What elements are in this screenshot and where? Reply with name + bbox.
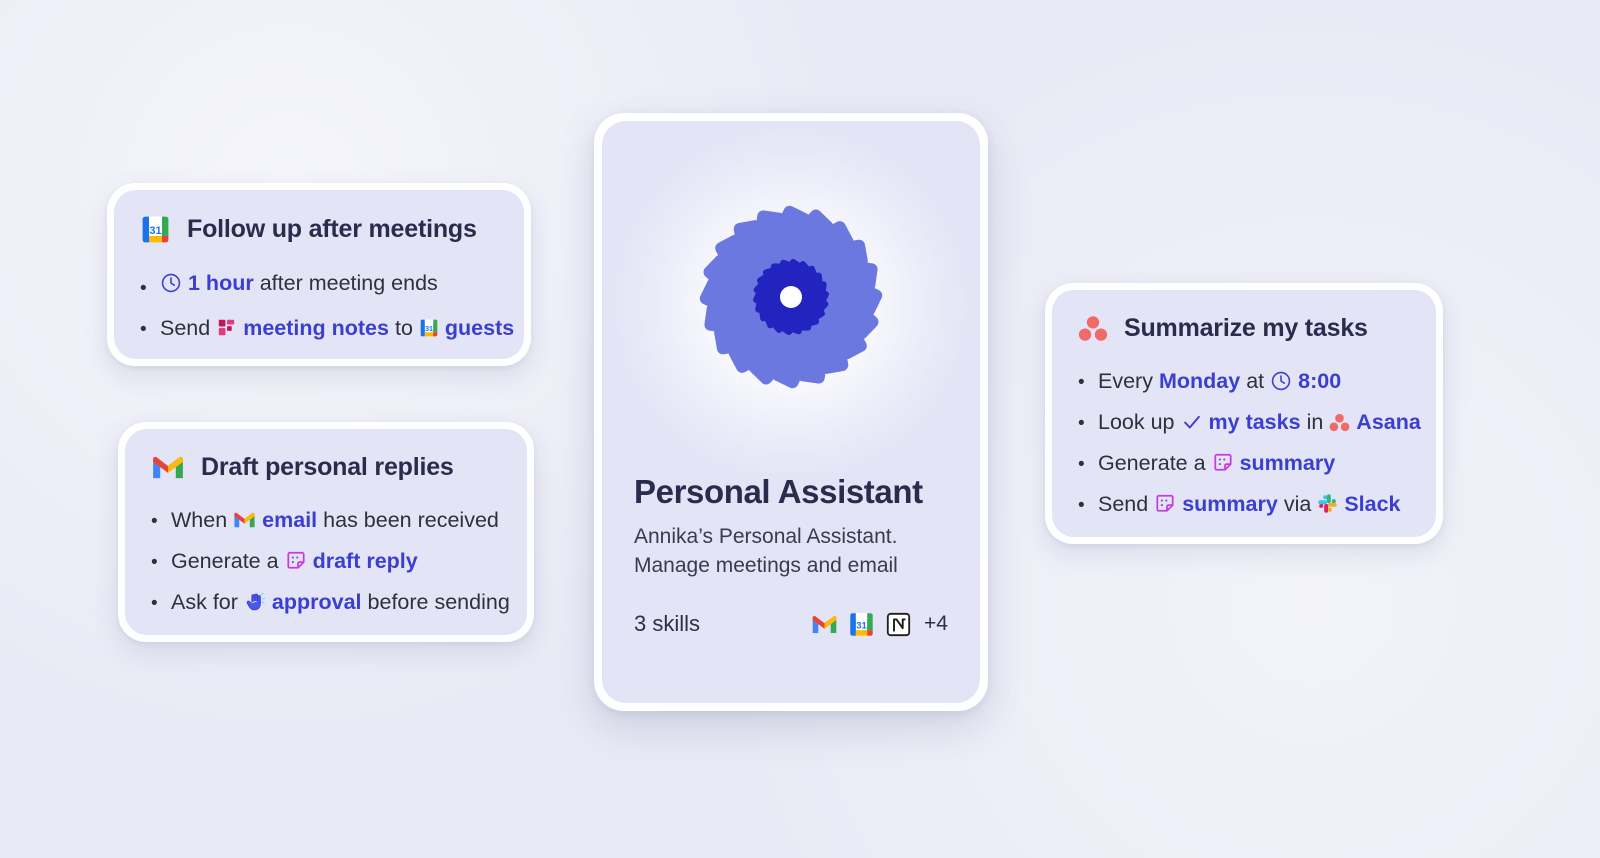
assistant-body: Personal Assistant Annika’s Personal Ass… (602, 473, 980, 638)
card-header: Summarize my tasks (1078, 314, 1410, 343)
bullet-entity[interactable]: draft reply (313, 541, 418, 582)
bullet-text: Send (1098, 484, 1148, 525)
notion-icon (885, 611, 912, 638)
bullet-text: in (1307, 402, 1324, 443)
bullet-entity[interactable]: guests (445, 308, 514, 349)
bullet-marker: • (1078, 447, 1098, 483)
bullet-item: • 1 hourafter meeting ends (140, 263, 498, 308)
card-header: 31 Follow up after meetings (140, 214, 498, 245)
bullet-list: •EveryMondayat 8:00•Look up my tasksin A… (1078, 361, 1410, 524)
svg-text:31: 31 (856, 620, 867, 631)
bullet-marker: • (1078, 365, 1098, 401)
note-icon (1212, 452, 1234, 474)
card-inner: Draft personal replies •When emailhas be… (125, 429, 527, 635)
bullet-list: • 1 hourafter meeting ends•Send meeting … (140, 263, 498, 348)
slack-icon (1317, 493, 1338, 514)
card-inner: 31 Follow up after meetings • 1 hourafte… (114, 190, 524, 359)
bullet-item: •Look up my tasksin Asana (1078, 402, 1410, 443)
bullet-text: after meeting ends (260, 263, 438, 304)
bullet-text: via (1284, 484, 1311, 525)
bullet-text: Send (160, 308, 210, 349)
bullet-entity[interactable]: email (262, 500, 317, 541)
bullet-item: •EveryMondayat 8:00 (1078, 361, 1410, 402)
bullet-list: •When emailhas been received•Generate a … (151, 500, 501, 623)
assistant-title: Personal Assistant (634, 473, 948, 511)
assistant-logo (602, 121, 980, 473)
assistant-footer: 3 skills 31 (634, 611, 948, 638)
bullet-content: Ask for approvalbefore sending (171, 582, 510, 623)
bullet-text: Every (1098, 361, 1153, 402)
bullet-content: Send summaryvia Slack (1098, 484, 1401, 525)
bullet-entity[interactable]: Monday (1159, 361, 1240, 402)
bullet-item: •Send summaryvia Slack (1078, 484, 1410, 525)
bullet-marker: • (151, 586, 171, 622)
note-icon (285, 550, 307, 572)
bullet-content: Look up my tasksin Asana (1098, 402, 1421, 443)
clock-icon (1270, 370, 1292, 392)
bullet-item: •Ask for approvalbefore sending (151, 582, 501, 623)
card-inner: Summarize my tasks •EveryMondayat 8:00•L… (1052, 290, 1436, 537)
google-calendar-icon: 31 (848, 611, 875, 638)
page-background: 31 Follow up after meetings • 1 hourafte… (0, 0, 1600, 858)
bullet-content: EveryMondayat 8:00 (1098, 361, 1341, 402)
card-inner: Personal Assistant Annika’s Personal Ass… (602, 121, 980, 703)
bullet-marker: • (1078, 488, 1098, 524)
note-icon (1154, 493, 1176, 515)
bullet-entity[interactable]: summary (1182, 484, 1278, 525)
bullet-entity[interactable]: my tasks (1209, 402, 1301, 443)
svg-text:31: 31 (149, 225, 161, 237)
bullet-entity[interactable]: 8:00 (1298, 361, 1341, 402)
bullet-content: When emailhas been received (171, 500, 499, 541)
bullet-item: •Generate a draft reply (151, 541, 501, 582)
assistant-card[interactable]: Personal Assistant Annika’s Personal Ass… (594, 113, 988, 711)
bullet-entity[interactable]: meeting notes (243, 308, 389, 349)
bullet-text: to (395, 308, 413, 349)
assistant-description: Annika’s Personal Assistant. Manage meet… (634, 523, 944, 581)
bullet-item: •Generate a summary (1078, 443, 1410, 484)
bullet-entity[interactable]: 1 hour (188, 263, 254, 304)
svg-text:31: 31 (425, 325, 433, 333)
asana-icon (1329, 413, 1350, 432)
check-icon (1181, 411, 1203, 433)
bullet-item: •Send meeting notesto 31 guests (140, 308, 498, 349)
card-title: Summarize my tasks (1124, 314, 1368, 343)
app-overflow-count: +4 (924, 612, 948, 636)
skill-card-follow-up[interactable]: 31 Follow up after meetings • 1 hourafte… (107, 183, 531, 366)
hand-raise-icon (244, 591, 266, 613)
bullet-entity[interactable]: Asana (1356, 402, 1421, 443)
bullet-marker: • (151, 504, 171, 540)
bullet-text: Ask for (171, 582, 238, 623)
skill-card-draft-replies[interactable]: Draft personal replies •When emailhas be… (118, 422, 534, 642)
dovetail-icon (216, 317, 237, 338)
asana-icon (1078, 315, 1108, 342)
bullet-text: Generate a (1098, 443, 1206, 484)
bullet-content: Generate a draft reply (171, 541, 418, 582)
bullet-content: Send meeting notesto 31 guests (160, 308, 514, 349)
bullet-entity[interactable]: Slack (1344, 484, 1400, 525)
bullet-entity[interactable]: approval (272, 582, 362, 623)
bullet-item: •When emailhas been received (151, 500, 501, 541)
card-header: Draft personal replies (151, 453, 501, 482)
clock-icon (160, 272, 182, 294)
gmail-icon (811, 614, 838, 635)
bullet-content: Generate a summary (1098, 443, 1335, 484)
bullet-content: 1 hourafter meeting ends (160, 263, 438, 304)
bullet-text: has been received (323, 500, 499, 541)
gmail-icon (233, 511, 256, 529)
google-calendar-icon: 31 (140, 214, 171, 245)
bullet-text: at (1246, 361, 1264, 402)
gmail-icon (151, 454, 185, 481)
bullet-marker: • (140, 312, 160, 348)
bullet-marker: • (140, 271, 160, 307)
bullet-text: When (171, 500, 227, 541)
bullet-text: Generate a (171, 541, 279, 582)
card-title: Draft personal replies (201, 453, 454, 482)
bullet-text: Look up (1098, 402, 1175, 443)
bullet-marker: • (1078, 406, 1098, 442)
bullet-text: before sending (368, 582, 510, 623)
bullet-marker: • (151, 545, 171, 581)
app-icon-group: 31 +4 (811, 611, 948, 638)
google-calendar-icon: 31 (419, 318, 439, 338)
skill-card-summarize-tasks[interactable]: Summarize my tasks •EveryMondayat 8:00•L… (1045, 283, 1443, 544)
bullet-entity[interactable]: summary (1240, 443, 1336, 484)
card-title: Follow up after meetings (187, 215, 477, 244)
skills-count: 3 skills (634, 611, 700, 637)
